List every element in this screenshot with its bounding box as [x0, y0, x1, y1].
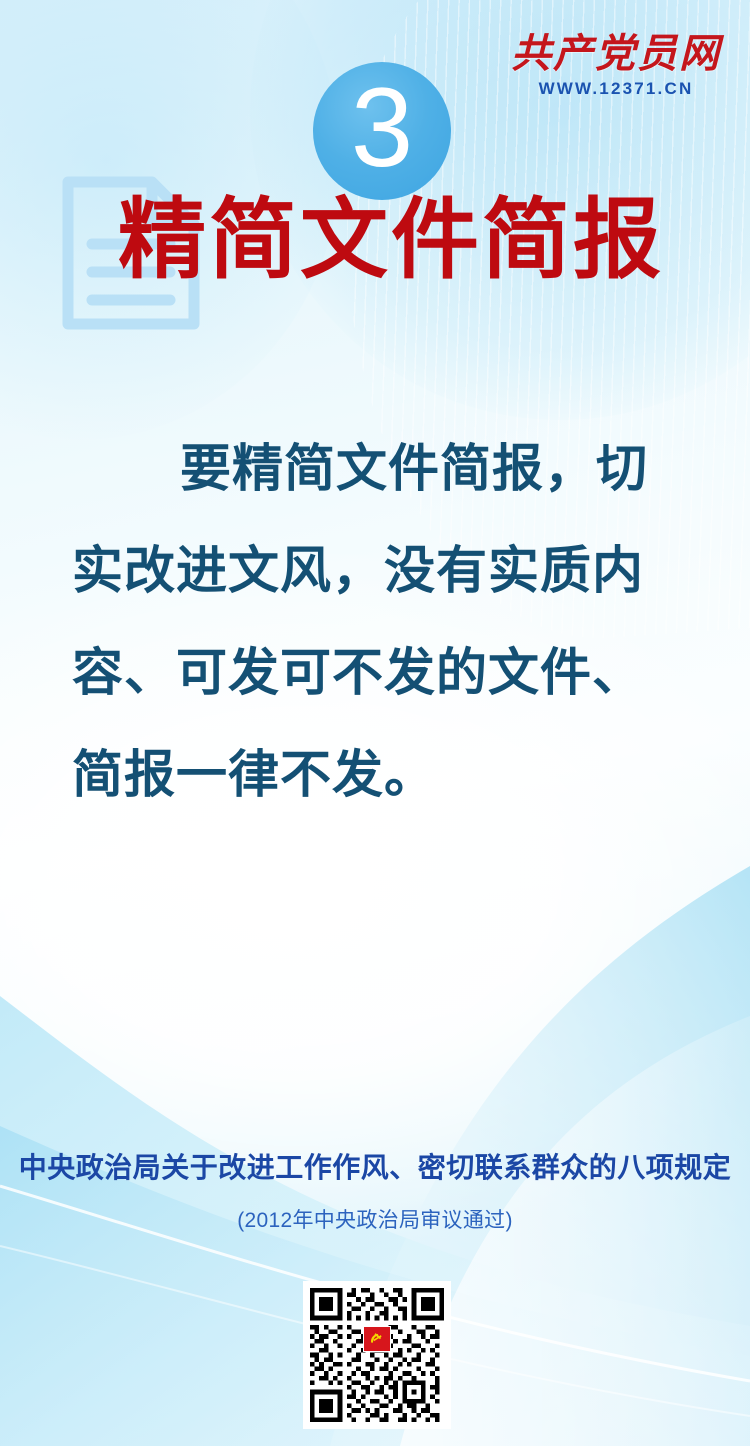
- body-text: 要精简文件简报，切 实改进文风，没有实质内 容、可发可不发的文件、 简报一律不发…: [72, 418, 678, 826]
- site-logo[interactable]: 共产党员网 WWW.12371.CN: [506, 34, 726, 97]
- regulation-subtitle: (2012年中央政治局审议通过): [0, 1204, 750, 1234]
- body-line: 要精简文件简报，切: [72, 418, 678, 520]
- party-emblem-icon: [363, 1326, 391, 1352]
- body-line: 实改进文风，没有实质内: [72, 520, 678, 622]
- qr-code-matrix: [310, 1288, 444, 1422]
- hammer-sickle-glyph: [368, 1331, 386, 1347]
- regulation-title: 中央政治局关于改进工作作风、密切联系群众的八项规定: [0, 1152, 750, 1186]
- item-number: 3: [351, 72, 413, 184]
- site-logo-name: 共产党员网: [506, 34, 726, 74]
- item-number-badge: 3: [313, 62, 451, 200]
- body-line: 容、可发可不发的文件、: [72, 622, 678, 724]
- site-logo-url: WWW.12371.CN: [506, 80, 726, 97]
- footer: 中央政治局关于改进工作作风、密切联系群众的八项规定 (2012年中央政治局审议通…: [0, 1152, 750, 1234]
- poster-canvas: 共产党员网 WWW.12371.CN 3 精简文件简报 要精简文件简报，切 实改…: [0, 0, 750, 1446]
- qr-code[interactable]: [303, 1281, 451, 1429]
- body-line: 简报一律不发。: [72, 724, 678, 826]
- page-title: 精简文件简报: [118, 192, 664, 289]
- qr-code-canvas: [310, 1288, 444, 1422]
